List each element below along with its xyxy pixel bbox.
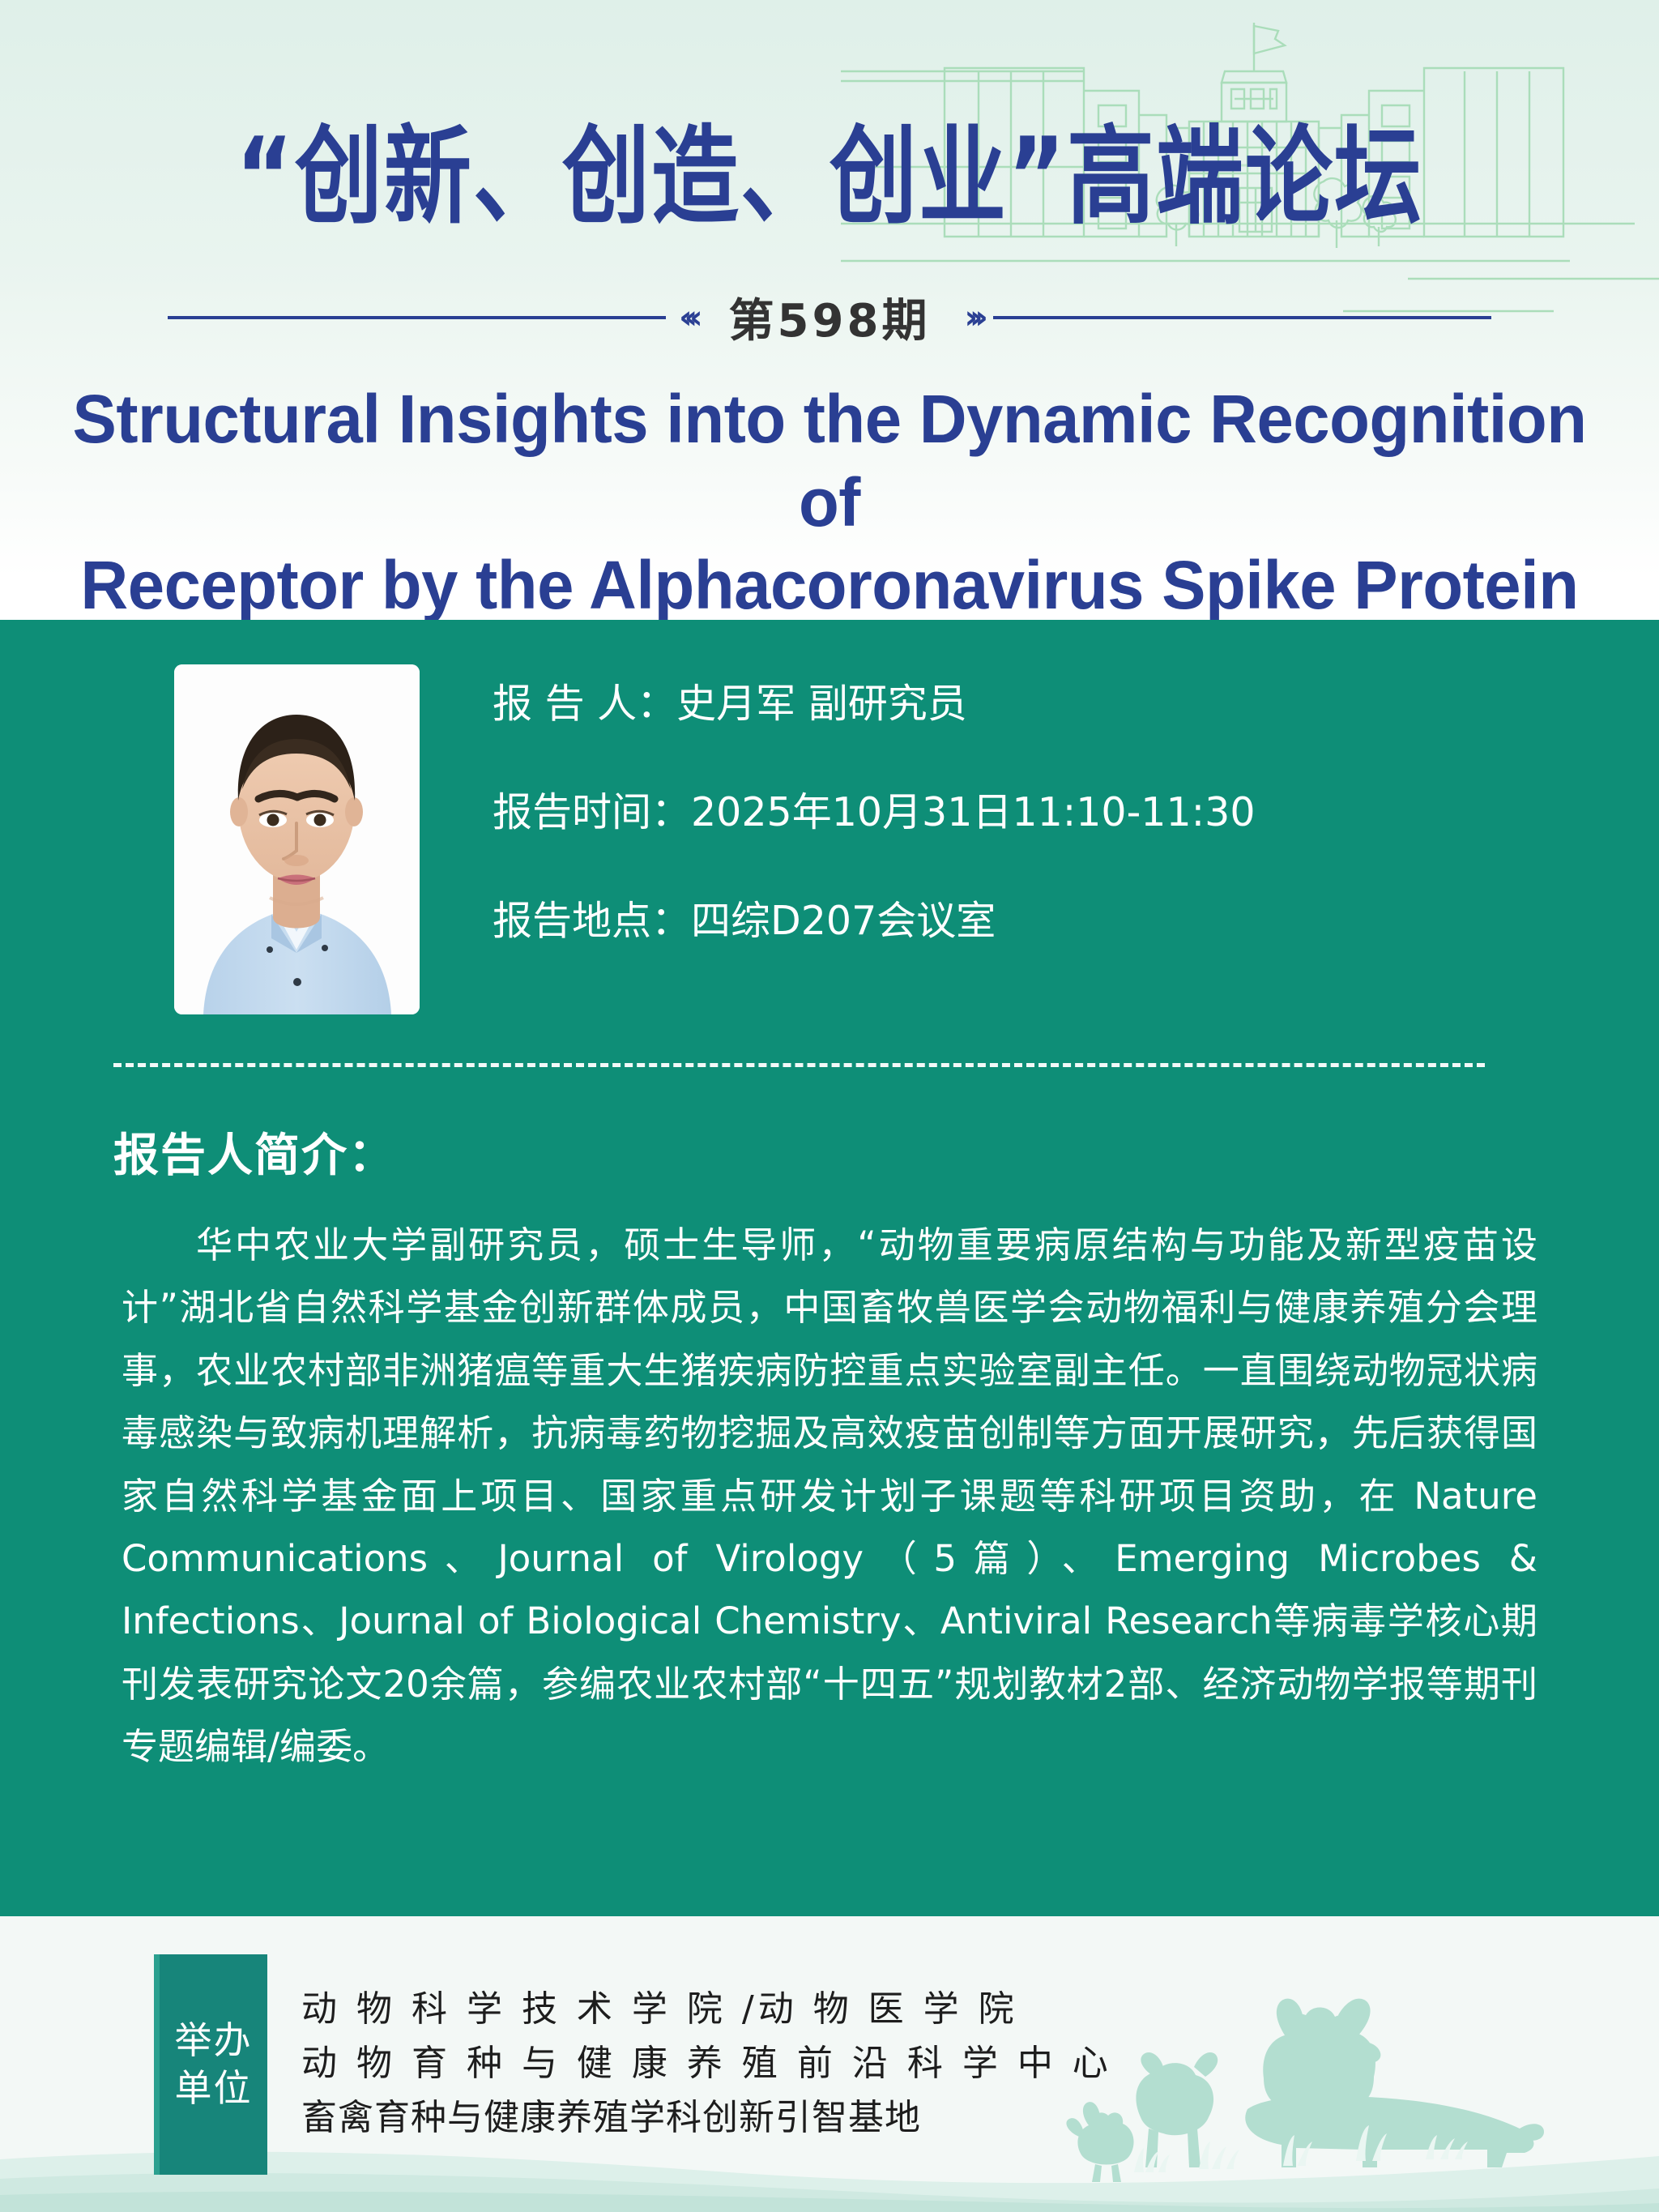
- organizer-item-3: 畜禽育种与健康养殖学科创新引智基地: [301, 2091, 1112, 2146]
- chevrons-left-icon: ‹‹‹: [666, 301, 707, 334]
- host-label-line-1: 举办: [175, 2017, 253, 2065]
- issue-rule-right: [993, 316, 1491, 319]
- poster-header: “创新、创造、创业”高端论坛 ‹‹‹ 第598期 ››› Structural …: [0, 0, 1659, 620]
- organizer-list: 动 物 科 学 技 术 学 院 /动 物 医 学 院 动 物 育 种 与 健 康…: [301, 1983, 1112, 2146]
- organizer-item-2: 动 物 育 种 与 健 康 养 殖 前 沿 科 学 中 心: [301, 2037, 1112, 2091]
- poster-root: “创新、创造、创业”高端论坛 ‹‹‹ 第598期 ››› Structural …: [0, 0, 1659, 2212]
- host-label-line-2: 单位: [175, 2065, 253, 2112]
- bio-heading: 报告人简介：: [113, 1119, 1659, 1185]
- en-title-line-2: Receptor by the Alphacoronavirus Spike P…: [72, 544, 1587, 620]
- poster-footer: 举办 单位 动 物 科 学 技 术 学 院 /动 物 医 学 院 动 物 育 种…: [0, 1916, 1659, 2212]
- speaker-presenter: 报 告 人：史月军 副研究员: [493, 684, 1256, 724]
- issue-row: ‹‹‹ 第598期 ›››: [0, 284, 1659, 350]
- organizer-item-1: 动 物 科 学 技 术 学 院 /动 物 医 学 院: [301, 1983, 1112, 2037]
- en-title-line-1: Structural Insights into the Dynamic Rec…: [72, 381, 1586, 540]
- page-title: Structural Insights into the Dynamic Rec…: [25, 378, 1635, 620]
- host-label-box: 举办 单位: [154, 1954, 267, 2175]
- issue-label: 第598期: [708, 284, 952, 350]
- chevrons-right-icon: ›››: [951, 301, 992, 334]
- bio-body: 华中农业大学副研究员，硕士生导师，“动物重要病原结构与功能及新型疫苗设计”湖北省…: [122, 1214, 1537, 1779]
- speaker-portrait-photo: [174, 664, 420, 1014]
- speaker-location: 报告地点：四综D207会议室: [493, 901, 1256, 941]
- poster-body: 报 告 人：史月军 副研究员 报告时间：2025年10月31日11:10-11:…: [0, 620, 1659, 1916]
- speaker-block: 报 告 人：史月军 副研究员 报告时间：2025年10月31日11:10-11:…: [0, 620, 1659, 1014]
- section-divider: [113, 1063, 1485, 1067]
- speaker-meta: 报 告 人：史月军 副研究员 报告时间：2025年10月31日11:10-11:…: [493, 664, 1256, 1014]
- issue-rule-left: [168, 316, 666, 319]
- forum-title: “创新、创造、创业”高端论坛: [0, 122, 1659, 233]
- speaker-time: 报告时间：2025年10月31日11:10-11:30: [493, 792, 1256, 832]
